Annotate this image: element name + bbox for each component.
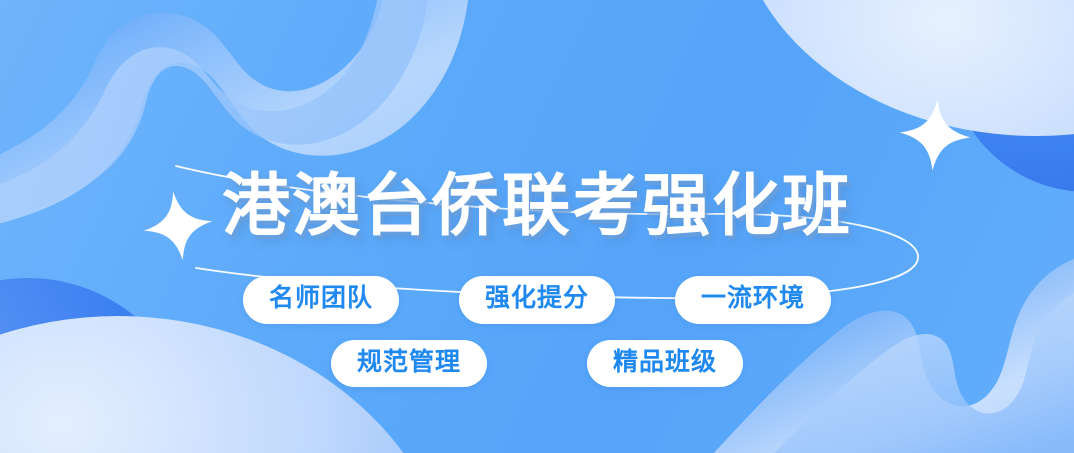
banner-content: 港澳台侨联考强化班 名师团队 强化提分 一流环境 规范管理 精品班级 bbox=[0, 0, 1074, 453]
feature-pill-row-1: 名师团队 强化提分 一流环境 bbox=[243, 276, 831, 324]
feature-pill-score-boost[interactable]: 强化提分 bbox=[459, 276, 615, 324]
feature-pill-teaching-team[interactable]: 名师团队 bbox=[243, 276, 399, 324]
feature-pill-row-2: 规范管理 精品班级 bbox=[331, 340, 743, 388]
feature-pill-top-environment[interactable]: 一流环境 bbox=[675, 276, 831, 324]
feature-pill-group: 名师团队 强化提分 一流环境 规范管理 精品班级 bbox=[243, 276, 831, 387]
promo-banner: 港澳台侨联考强化班 名师团队 强化提分 一流环境 规范管理 精品班级 bbox=[0, 0, 1074, 453]
feature-pill-premium-class[interactable]: 精品班级 bbox=[587, 340, 743, 388]
feature-pill-standard-management[interactable]: 规范管理 bbox=[331, 340, 487, 388]
page-title: 港澳台侨联考强化班 bbox=[222, 172, 852, 240]
